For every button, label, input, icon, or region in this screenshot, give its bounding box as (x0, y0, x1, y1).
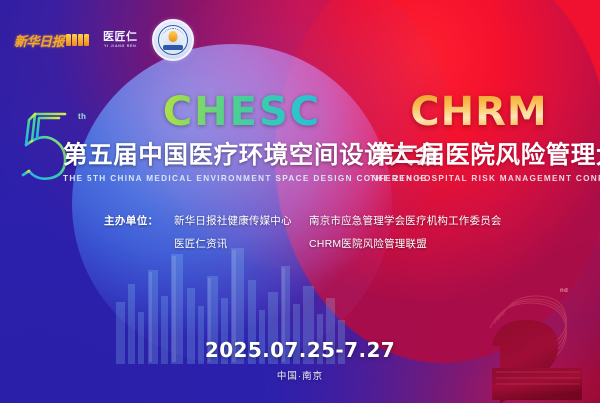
vignette-overlay (0, 0, 600, 403)
conference-poster: 新华日报 医匠仁 YI JIANG REN (0, 0, 600, 403)
